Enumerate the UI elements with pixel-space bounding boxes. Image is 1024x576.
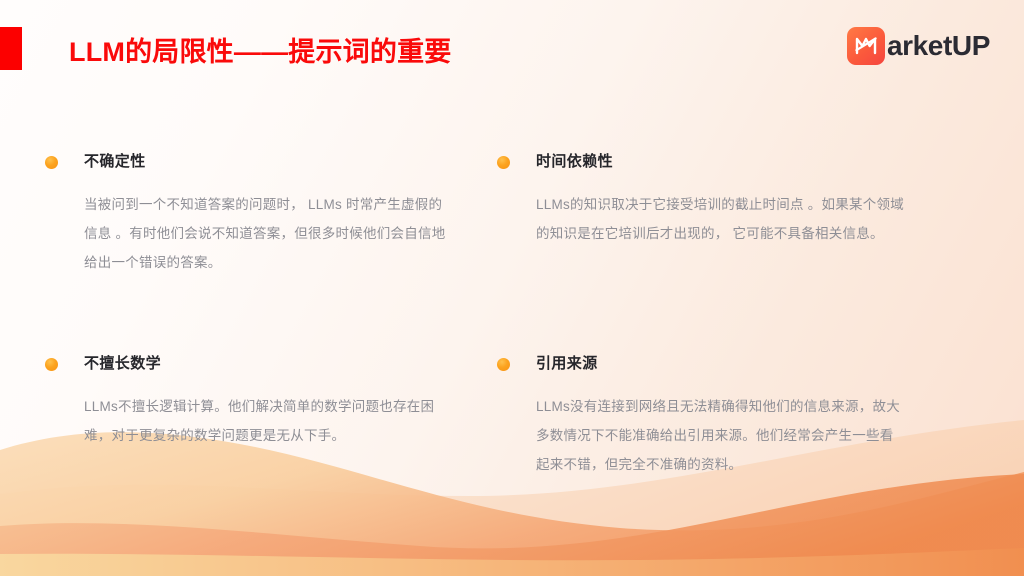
bullet-dot-icon <box>45 358 58 371</box>
card-header: 不擅长数学 <box>45 352 465 378</box>
card-title: 引用来源 <box>536 352 598 376</box>
brand-logo: arketUP <box>847 25 990 67</box>
card-body: LLMs的知识取决于它接受培训的截止时间点 。如果某个领域的知识是在它培训后才出… <box>536 190 906 248</box>
card-title: 时间依赖性 <box>536 150 613 174</box>
bullet-dot-icon <box>45 156 58 169</box>
card-body: LLMs不擅长逻辑计算。他们解决简单的数学问题也存在困难，对于更复杂的数学问题更… <box>84 392 454 450</box>
card-title: 不确定性 <box>84 150 146 174</box>
card-not-good-at-math: 不擅长数学 LLMs不擅长逻辑计算。他们解决简单的数学问题也存在困难，对于更复杂… <box>45 352 465 450</box>
card-time-dependency: 时间依赖性 LLMs的知识取决于它接受培训的截止时间点 。如果某个领域的知识是在… <box>497 150 917 248</box>
title-accent-bar <box>0 27 22 70</box>
card-header: 引用来源 <box>497 352 917 378</box>
card-title: 不擅长数学 <box>84 352 161 376</box>
wave-path-sand <box>0 548 1024 576</box>
marketup-logo-mark-icon <box>847 27 885 65</box>
card-header: 不确定性 <box>45 150 465 176</box>
card-body: 当被问到一个不知道答案的问题时， LLMs 时常产生虚假的信息 。有时他们会说不… <box>84 190 454 277</box>
bullet-dot-icon <box>497 358 510 371</box>
brand-logo-text: arketUP <box>887 32 990 60</box>
slide-header: LLM的局限性——提示词的重要 arketUP <box>0 0 1024 96</box>
page-title: LLM的局限性——提示词的重要 <box>69 35 451 69</box>
slide-canvas: LLM的局限性——提示词的重要 arketUP 不确定性 当被问到一个不知道答案… <box>0 0 1024 576</box>
card-citation-sources: 引用来源 LLMs没有连接到网络且无法精确得知他们的信息来源，故大多数情况下不能… <box>497 352 917 479</box>
wave-path-deep <box>0 474 1024 576</box>
card-uncertainty: 不确定性 当被问到一个不知道答案的问题时， LLMs 时常产生虚假的信息 。有时… <box>45 150 465 277</box>
bullet-dot-icon <box>497 156 510 169</box>
card-body: LLMs没有连接到网络且无法精确得知他们的信息来源，故大多数情况下不能准确给出引… <box>536 392 906 479</box>
card-header: 时间依赖性 <box>497 150 917 176</box>
